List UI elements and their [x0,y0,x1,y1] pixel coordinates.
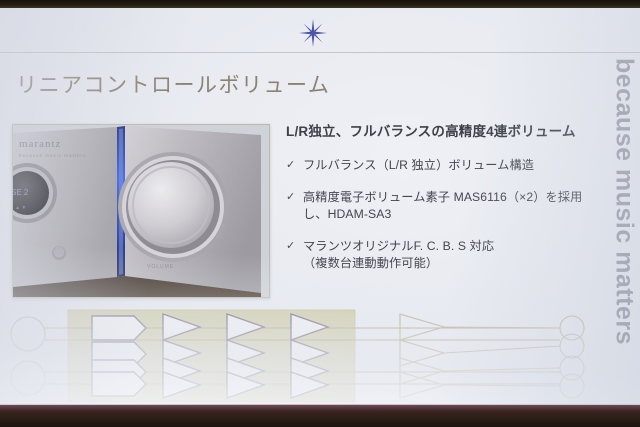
svg-text:VOLUME: VOLUME [147,264,174,270]
bullet-line-2: （複数台連動動作可能） [303,255,494,272]
svg-text:SE 2: SE 2 [13,188,29,197]
bullet-text: マランツオリジナルF. C. B. S 対応 （複数台連動動作可能） [303,238,494,272]
top-dark-band [0,0,640,8]
marantz-star-logo-icon [298,18,328,48]
list-item: ✓ 高精度電子ボリューム素子 MAS6116（×2）を採用 し、HDAM-SA3 [286,189,630,223]
output-amplifier-symbol [400,340,444,366]
svg-text:because music matters: because music matters [19,153,86,158]
output-connector [560,316,584,340]
check-icon: ✓ [286,189,303,206]
side-brand-label: because music matters [610,58,639,345]
svg-text:▲ ▼: ▲ ▼ [15,205,26,211]
header-divider [0,52,640,53]
input-connector [11,317,45,351]
list-item: ✓ フルバランス（L/R 独立）ボリューム構造 [286,157,630,174]
svg-text:marantz: marantz [19,138,61,150]
output-amplifier-symbol [400,314,444,340]
output-connector [560,374,584,398]
page-title: リニアコントロールボリューム [16,69,330,99]
output-connector [560,334,584,358]
bullet-text: フルバランス（L/R 独立）ボリューム構造 [303,157,534,174]
input-connector [11,361,45,395]
output-amplifier-symbol [400,358,444,384]
projected-slide-photo: リニアコントロールボリューム [0,0,640,427]
volume-element [92,372,146,396]
volume-element [92,316,146,340]
side-brand-text: because music matters [609,58,639,378]
bullet-line-1: マランツオリジナルF. C. B. S 対応 [303,239,494,253]
bullet-line-1: フルバランス（L/R 独立）ボリューム構造 [303,158,534,172]
output-connector [560,356,584,380]
list-item: ✓ マランツオリジナルF. C. B. S 対応 （複数台連動動作可能） [286,238,630,272]
bullet-line-2: し、HDAM-SA3 [303,206,582,223]
check-icon: ✓ [286,157,303,174]
copy-block: L/R独立、フルバランスの高精度4連ボリューム ✓ フルバランス（L/R 独立）… [286,120,630,287]
bullet-text: 高精度電子ボリューム素子 MAS6116（×2）を採用 し、HDAM-SA3 [303,189,582,223]
block-diagram [0,306,640,406]
output-amplifier-symbol [400,372,444,398]
check-icon: ✓ [286,238,303,255]
bottom-dark-band [0,405,640,427]
slide-surface: リニアコントロールボリューム [0,6,640,406]
bullet-line-1: 高精度電子ボリューム素子 MAS6116（×2）を採用 [303,190,582,204]
amplifier-illustration: marantz because music matters SE 2 ▲ ▼ V… [13,125,269,297]
copy-heading: L/R独立、フルバランスの高精度4連ボリューム [286,120,630,140]
product-photo: marantz because music matters SE 2 ▲ ▼ V… [12,124,270,298]
